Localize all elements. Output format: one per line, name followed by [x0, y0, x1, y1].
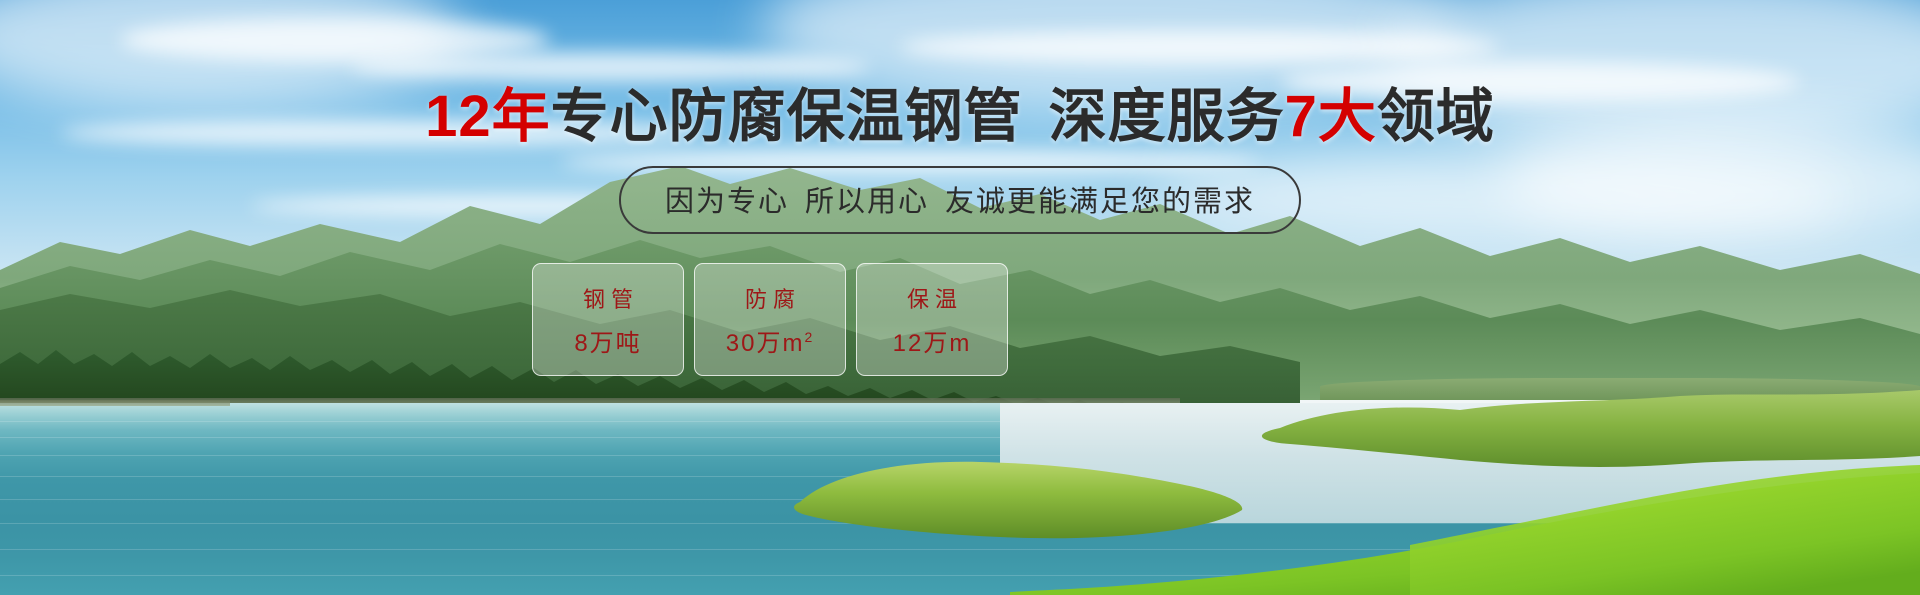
stat-card-label: 保温 [901, 282, 963, 314]
stat-card-value: 12万m [893, 323, 972, 358]
foreground-grass [1010, 455, 1920, 595]
subtitle-part-1: 因为专心 [665, 186, 789, 218]
headline-segment-years-number: 12 [425, 84, 492, 149]
headline-segment-seven-unit: 大 [1318, 84, 1377, 149]
stat-card-group: 钢管 8万吨 防腐 30万m2 保温 12万m [532, 263, 1008, 376]
headline-segment-fields: 领域 [1377, 84, 1495, 149]
headline-segment-years-unit: 年 [492, 84, 551, 149]
headline-segment-seven-number: 7 [1285, 84, 1318, 149]
promo-banner: 12年专心防腐保温钢管深度服务7大领域 因为专心所以用心友诚更能满足您的需求 钢… [0, 0, 1920, 595]
stat-card-label: 防腐 [739, 282, 801, 314]
headline-segment-main: 专心防腐保温钢管 [551, 84, 1023, 149]
stat-card[interactable]: 保温 12万m [856, 263, 1008, 376]
stat-card-label: 钢管 [577, 282, 639, 314]
stat-card[interactable]: 防腐 30万m2 [694, 263, 846, 376]
stat-card-value: 8万吨 [574, 323, 641, 358]
subtitle-part-2: 所以用心 [805, 186, 929, 218]
headline-segment-service: 深度服务 [1049, 84, 1285, 149]
subtitle-part-3: 友诚更能满足您的需求 [945, 186, 1255, 218]
left-shore-sliver [0, 400, 230, 406]
stat-card[interactable]: 钢管 8万吨 [532, 263, 684, 376]
stat-card-value: 30万m2 [726, 323, 814, 358]
stat-card-unit-exponent: 2 [804, 329, 814, 345]
banner-headline: 12年专心防腐保温钢管深度服务7大领域 [0, 88, 1920, 146]
subtitle-pill: 因为专心所以用心友诚更能满足您的需求 [619, 166, 1301, 234]
